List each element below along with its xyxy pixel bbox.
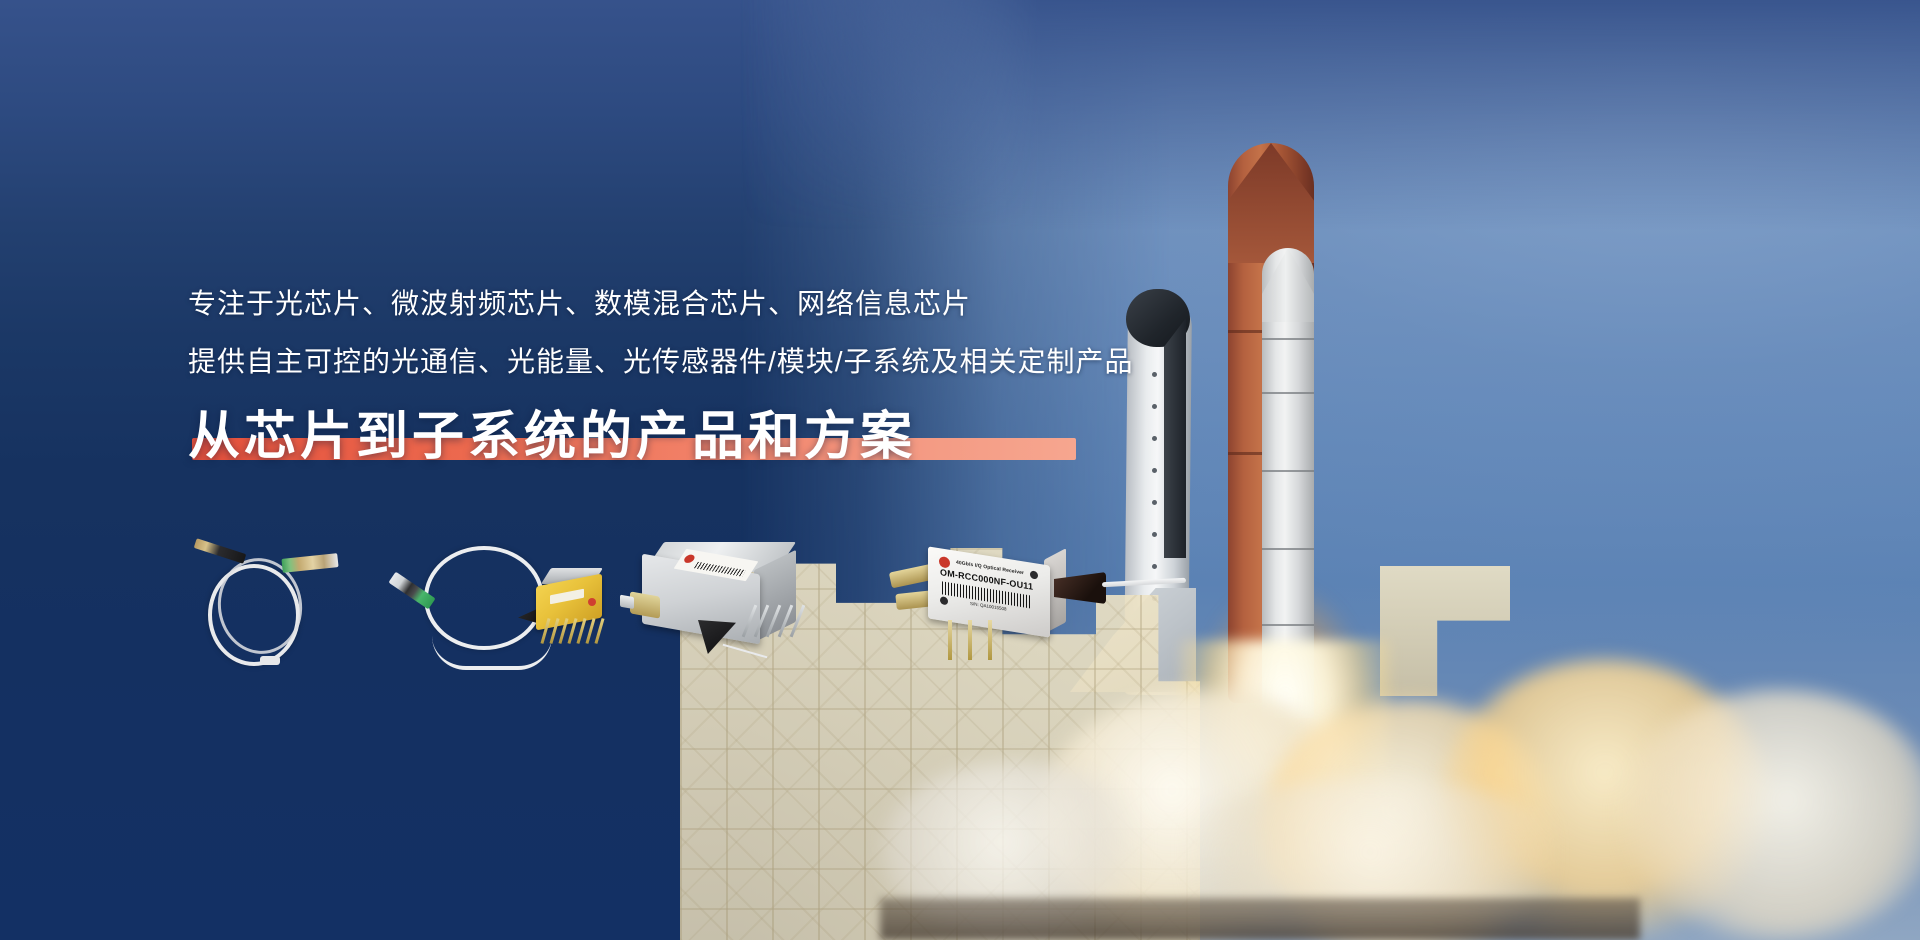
booster-band — [1262, 338, 1314, 340]
subheading-line-1: 专注于光芯片、微波射频芯片、数模混合芯片、网络信息芯片 — [188, 285, 1208, 323]
headline-wrapper: 从芯片到子系统的产品和方案 — [188, 408, 916, 466]
package-pins — [544, 618, 608, 644]
product-image-row: 40Gb/s I/Q Optical Receiver OM-RCC000NF-… — [186, 528, 1186, 678]
mounting-hole-icon — [940, 596, 948, 605]
output-fiber — [1102, 578, 1186, 587]
hero-banner: 专注于光芯片、微波射频芯片、数模混合芯片、网络信息芯片 提供自主可控的光通信、光… — [0, 0, 1920, 940]
launch-pad-base — [880, 898, 1640, 940]
fiber-tail — [432, 636, 552, 670]
subheading-line-2: 提供自主可控的光通信、光能量、光传感器件/模块/子系统及相关定制产品 — [188, 343, 1208, 381]
output-fiber — [723, 644, 768, 659]
fiber-connector-right — [281, 553, 338, 573]
mounting-hole-icon — [1030, 570, 1038, 579]
product-butterfly-laser-diode — [386, 542, 606, 674]
product-optical-receiver-module: 40Gb/s I/Q Optical Receiver OM-RCC000NF-… — [876, 534, 1186, 676]
booster-band — [1262, 624, 1314, 626]
brand-logo-icon — [682, 554, 696, 564]
sma-connector — [630, 591, 660, 618]
booster-band — [1262, 470, 1314, 472]
smoke-cloud — [1620, 690, 1920, 940]
module-pins — [948, 620, 1006, 662]
banner-copy: 专注于光芯片、微波射频芯片、数模混合芯片、网络信息芯片 提供自主可控的光通信、光… — [188, 285, 1208, 466]
product-fiber-optic-pigtail — [186, 536, 346, 666]
booster-band — [1262, 392, 1314, 394]
fiber-ferrule — [260, 656, 280, 665]
booster-band — [1262, 548, 1314, 550]
launch-tower-arm-icon — [1380, 566, 1510, 696]
page-title: 从芯片到子系统的产品和方案 — [188, 408, 916, 466]
space-shuttle-launch-scene — [740, 0, 1920, 940]
fiber-coil — [424, 546, 544, 650]
fiber-connector-left — [194, 538, 247, 564]
module-pins — [748, 604, 822, 640]
product-rf-metal-module — [636, 538, 821, 670]
brand-dot-icon — [588, 598, 596, 606]
